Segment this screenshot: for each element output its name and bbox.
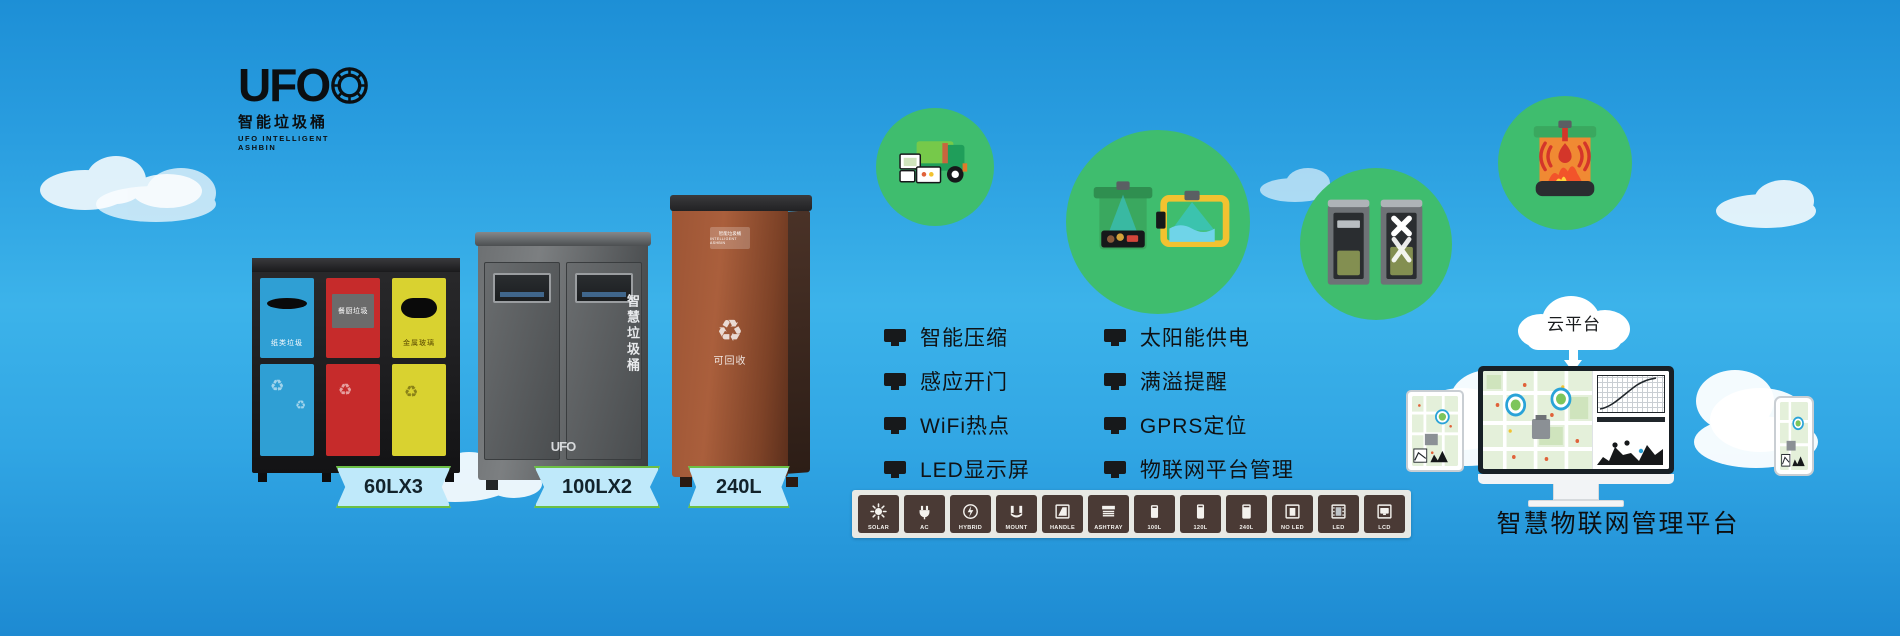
- monitor-icon: [884, 329, 906, 346]
- sun-icon: [858, 498, 899, 525]
- feature-item: 满溢提醒: [1104, 366, 1294, 396]
- monitor-icon: [1104, 373, 1126, 390]
- compartment-label: 金属玻璃: [392, 338, 446, 348]
- option-bin-240l[interactable]: 240L: [1226, 495, 1267, 533]
- option-bin-120l[interactable]: 120L: [1180, 495, 1221, 533]
- capacity-badge-240l: 240L: [688, 466, 790, 508]
- bin-vertical-text: 智慧垃圾桶: [622, 294, 642, 374]
- iot-platform-illustration: 云平台: [1400, 292, 1820, 542]
- cloud-platform-label: 云平台: [1518, 310, 1630, 335]
- map-dashboard-panel: [1483, 371, 1592, 469]
- capacity-badge-100l: 100LX2: [534, 466, 660, 508]
- bin-240l-icon: [1226, 498, 1267, 525]
- monitor-icon: [1104, 329, 1126, 346]
- bin-100l-icon: [1134, 498, 1175, 525]
- three-compartment-bin[interactable]: 纸类垃圾 ♻ ♻ 餐厨垃圾 ♻ 金属玻璃: [252, 258, 460, 473]
- option-label: 240L: [1226, 525, 1267, 533]
- monitor-icon: [884, 417, 906, 434]
- bin-compartment-metal-glass: 金属玻璃 ♻: [388, 272, 450, 462]
- feature-list: 智能压缩 感应开门 WiFi热点 LED显示屏 太阳能供电 满溢提醒: [884, 322, 1294, 484]
- option-hybrid[interactable]: HYBRID: [950, 495, 991, 533]
- promotional-banner: UFO 智能垃圾桶 UFO INTELLIGENT ASHBIN: [0, 0, 1900, 636]
- recycle-marking: ♻ 可回收: [714, 317, 747, 367]
- feature-column-left: 智能压缩 感应开门 WiFi热点 LED显示屏: [884, 322, 1030, 484]
- option-icon-strip: SOLAR AC HYBRID MOUNT: [852, 490, 1411, 538]
- feature-column-right: 太阳能供电 满溢提醒 GPRS定位 物联网平台管理: [1104, 322, 1294, 484]
- two-compartment-smart-bin[interactable]: 智慧垃圾桶 UFO: [478, 240, 648, 480]
- smartphone-icon: [1774, 396, 1814, 476]
- option-label: NO LED: [1272, 525, 1313, 533]
- option-ac[interactable]: AC: [904, 495, 945, 533]
- feature-label: 满溢提醒: [1140, 366, 1228, 396]
- feature-item: 太阳能供电: [1104, 322, 1294, 352]
- monitor-icon: [1104, 461, 1126, 478]
- slot-round: [401, 298, 437, 318]
- feature-label: 太阳能供电: [1140, 322, 1250, 352]
- option-label: SOLAR: [858, 525, 899, 533]
- recycle-icon: ♻: [717, 317, 744, 347]
- feature-label: 智能压缩: [920, 322, 1008, 352]
- feature-label: 感应开门: [920, 366, 1008, 396]
- tablet-icon: [1406, 390, 1464, 472]
- feature-label: WiFi热点: [920, 410, 1010, 440]
- feature-item: 智能压缩: [884, 322, 1030, 352]
- option-label: HANDLE: [1042, 525, 1083, 533]
- option-label: AC: [904, 525, 945, 533]
- bin-brand-mark: UFO: [551, 439, 575, 454]
- bin-120l-icon: [1180, 498, 1221, 525]
- monitor-icon: [1104, 417, 1126, 434]
- feature-item: WiFi热点: [884, 410, 1030, 440]
- led-icon: [1318, 498, 1359, 525]
- feature-item: 物联网平台管理: [1104, 454, 1294, 484]
- fire-alarm-bin-icon: [1498, 96, 1632, 230]
- chart-dashboard-panel: [1592, 371, 1669, 469]
- platform-title: 智慧物联网管理平台: [1418, 504, 1818, 540]
- option-label: 100L: [1134, 525, 1175, 533]
- handle-icon: [1042, 498, 1083, 525]
- slot-oval: [267, 298, 307, 309]
- compartment-label: 纸类垃圾: [260, 338, 314, 348]
- bin-info-plate: 智能垃圾桶 INTELLIGENT ASHBIN: [710, 227, 750, 249]
- cloud-platform-tag: 云平台: [1518, 292, 1630, 352]
- option-label: LED: [1318, 525, 1359, 533]
- recycle-label: 可回收: [714, 352, 747, 367]
- option-mount[interactable]: MOUNT: [996, 495, 1037, 533]
- bin-compartment-paper: 纸类垃圾 ♻ ♻: [256, 272, 318, 462]
- option-handle[interactable]: HANDLE: [1042, 495, 1083, 533]
- option-bin-100l[interactable]: 100L: [1134, 495, 1175, 533]
- feature-label: LED显示屏: [920, 454, 1030, 484]
- option-label: ASHTRAY: [1088, 525, 1129, 533]
- monitor-icon: [884, 373, 906, 390]
- option-lcd[interactable]: LCD: [1364, 495, 1405, 533]
- feature-item: 感应开门: [884, 366, 1030, 396]
- feature-item: LED显示屏: [884, 454, 1030, 484]
- option-label: MOUNT: [996, 525, 1037, 533]
- hybrid-icon: [950, 498, 991, 525]
- plate-line-2: INTELLIGENT ASHBIN: [710, 237, 750, 245]
- single-recycle-bin[interactable]: 智能垃圾桶 INTELLIGENT ASHBIN ♻ 可回收: [672, 205, 788, 477]
- feature-item: GPRS定位: [1104, 410, 1294, 440]
- feature-label: 物联网平台管理: [1140, 454, 1294, 484]
- desktop-monitor-icon: [1478, 366, 1674, 507]
- option-label: 120L: [1180, 525, 1221, 533]
- no-led-icon: [1272, 498, 1313, 525]
- mount-icon: [996, 498, 1037, 525]
- option-solar[interactable]: SOLAR: [858, 495, 899, 533]
- option-label: HYBRID: [950, 525, 991, 533]
- option-led[interactable]: LED: [1318, 495, 1359, 533]
- monitor-icon: [884, 461, 906, 478]
- garbage-truck-fleet-icon: [876, 108, 994, 226]
- ashtray-icon: [1088, 498, 1129, 525]
- capacity-badge-60l: 60LX3: [336, 466, 451, 508]
- fill-level-sensor-icon: [1066, 130, 1250, 314]
- option-ashtray[interactable]: ASHTRAY: [1088, 495, 1129, 533]
- bin-compartment-kitchen: 餐厨垃圾 ♻: [322, 272, 384, 462]
- option-label: LCD: [1364, 525, 1405, 533]
- compartment-label: 餐厨垃圾: [332, 294, 374, 328]
- plug-icon: [904, 498, 945, 525]
- option-no-led[interactable]: NO LED: [1272, 495, 1313, 533]
- feature-label: GPRS定位: [1140, 410, 1248, 440]
- lcd-icon: [1364, 498, 1405, 525]
